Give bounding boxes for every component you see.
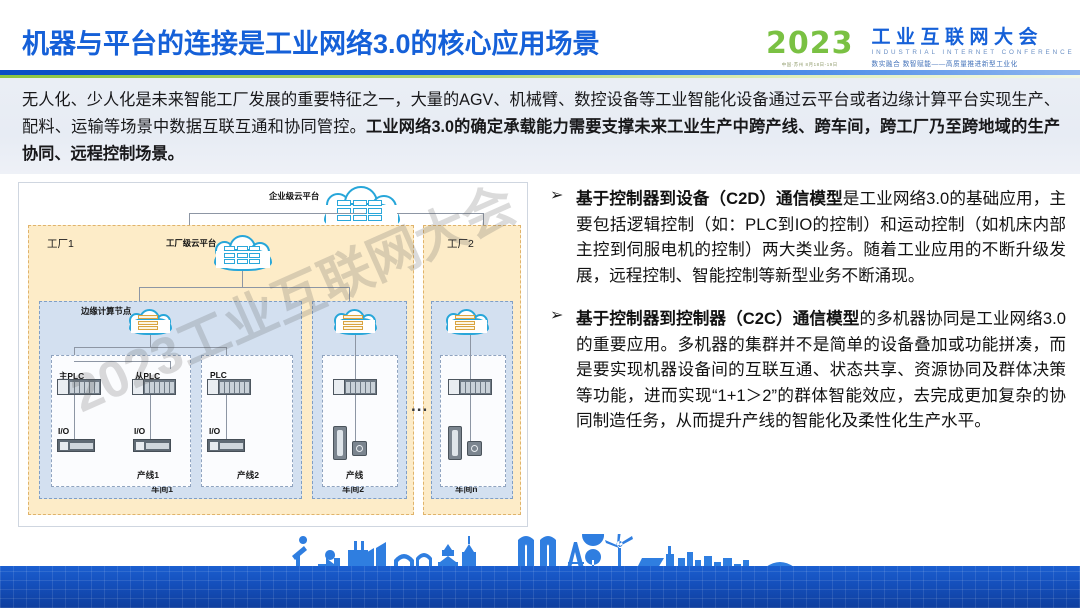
link-edge1-down	[150, 335, 151, 347]
link-slave-plc-io	[150, 395, 151, 439]
intro-paragraph: 无人化、少人化是未来智能工厂发展的重要特征之一，大量的AGV、机械臂、数控设备等…	[22, 87, 1060, 168]
slide-header: 机器与平台的连接是工业网络3.0的核心应用场景 2023 中国·苏州 8月18日…	[0, 0, 1080, 78]
link-enterprise-right	[397, 213, 483, 214]
bullet-item-c2d: ➢ 基于控制器到设备（C2D）通信模型是工业网络3.0的基础应用，主要包括逻辑控…	[548, 186, 1066, 288]
link-factory-bus	[139, 287, 349, 288]
logo-english-name: INDUSTRIAL INTERNET CONFERENCE	[872, 49, 1075, 56]
device-label-io-2: I/O	[134, 426, 145, 436]
link-edge1-bus	[74, 347, 226, 348]
zone-label-factory-2: 工厂2	[447, 236, 474, 251]
zone-label-factory-1: 工厂1	[47, 236, 74, 251]
logo-year: 2023	[766, 29, 854, 59]
link-enterprise-left	[189, 213, 365, 214]
device-label-io-1: I/O	[58, 426, 69, 436]
conference-logo: 2023 中国·苏州 8月18日-19日 工业互联网大会 INDUSTRIAL …	[766, 26, 1066, 70]
link-line1-bus	[74, 361, 170, 362]
link-edge2-plc	[355, 335, 356, 379]
device-hmi-2	[352, 441, 367, 456]
link-edgen-plc	[470, 335, 471, 379]
link-plcn-robot	[470, 395, 471, 441]
device-io-3	[207, 439, 245, 452]
device-io-2	[133, 439, 171, 452]
intro-band: 无人化、少人化是未来智能工厂发展的重要特征之一，大量的AGV、机械臂、数控设备等…	[0, 78, 1080, 174]
bullet-arrow-icon: ➢	[550, 308, 563, 324]
slide-body: 企业级云平台 工厂1 工厂2 工厂级云平台	[0, 174, 1080, 534]
logo-text-block: 工业互联网大会 INDUSTRIAL INTERNET CONFERENCE 数…	[872, 28, 1075, 69]
zone-label-line-1: 产线1	[137, 469, 159, 481]
bullet-bold-c2d: 基于控制器到设备（C2D）通信模型	[576, 189, 843, 208]
slide-footer	[0, 534, 1080, 608]
link-plc3-robot	[355, 395, 356, 441]
ellipsis-more-factories: ...	[411, 396, 428, 416]
device-slave-plc	[132, 379, 176, 395]
bullet-item-c2c: ➢ 基于控制器到控制器（C2C）通信模型的多机器协同是工业网络3.0的重要应用。…	[548, 306, 1066, 434]
bullet-text-c2d: 基于控制器到设备（C2D）通信模型是工业网络3.0的基础应用，主要包括逻辑控制（…	[576, 186, 1066, 288]
logo-year-subtitle: 中国·苏州 8月18日-19日	[782, 62, 838, 68]
page-title: 机器与平台的连接是工业网络3.0的核心应用场景	[22, 22, 600, 61]
bullet-arrow-icon: ➢	[550, 188, 563, 204]
device-robot-2	[333, 426, 347, 460]
link-line1-slave	[170, 361, 171, 369]
link-plc2-io	[226, 395, 227, 439]
device-robot-n	[448, 426, 462, 460]
zone-label-line-2: 产线2	[237, 469, 259, 481]
device-plc-n	[448, 379, 492, 395]
link-factory-down	[242, 271, 243, 287]
bullet-list: ➢ 基于控制器到设备（C2D）通信模型是工业网络3.0的基础应用，主要包括逻辑控…	[548, 186, 1066, 526]
zone-line-3	[322, 355, 398, 487]
factory-cloud-label: 工厂级云平台	[166, 237, 216, 249]
device-plc-2	[207, 379, 251, 395]
device-master-plc	[57, 379, 101, 395]
logo-slogan: 数实融合 数智赋能——高质量推进新型工业化	[872, 58, 1075, 68]
bullet-bold-c2c: 基于控制器到控制器（C2C）通信模型	[576, 309, 859, 328]
zone-line-n	[440, 355, 506, 487]
zone-label-line-3: 产线	[346, 469, 363, 481]
device-label-io-3: I/O	[209, 426, 220, 436]
device-hmi-n	[467, 441, 482, 456]
device-io-1	[57, 439, 95, 452]
logo-chinese-name: 工业互联网大会	[872, 28, 1075, 48]
architecture-diagram: 企业级云平台 工厂1 工厂2 工厂级云平台	[18, 182, 528, 527]
footer-grid-band	[0, 566, 1080, 608]
logo-year-block: 2023 中国·苏州 8月18日-19日	[766, 29, 863, 68]
link-master-plc-io	[74, 395, 75, 439]
bullet-text-c2c: 基于控制器到控制器（C2C）通信模型的多机器协同是工业网络3.0的重要应用。多机…	[576, 306, 1066, 434]
device-plc-3	[333, 379, 377, 395]
enterprise-cloud-label: 企业级云平台	[269, 190, 319, 202]
edge-node-label: 边缘计算节点	[81, 305, 131, 317]
link-edge1-right	[226, 347, 227, 355]
